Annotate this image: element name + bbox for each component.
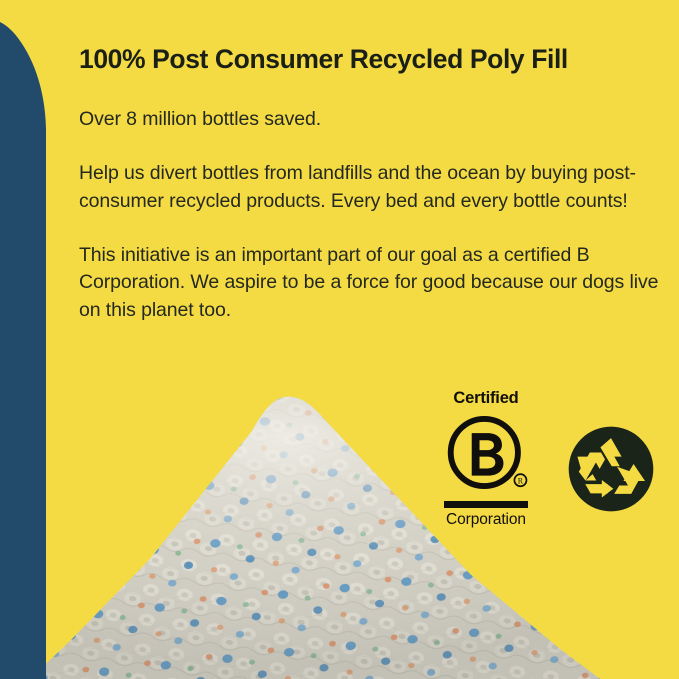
bcorp-registered-mark: R <box>518 476 524 485</box>
paragraph-b-corporation: This initiative is an important part of … <box>79 242 664 325</box>
product-info-panel: 100% Post Consumer Recycled Poly Fill Ov… <box>0 0 679 679</box>
copy-block: 100% Post Consumer Recycled Poly Fill Ov… <box>79 44 664 325</box>
recycle-symbol-icon <box>565 423 657 515</box>
bcorp-corporation-label: Corporation <box>444 512 528 528</box>
bcorp-certified-label: Certified <box>444 390 528 407</box>
paragraph-bottles-saved: Over 8 million bottles saved. <box>79 106 664 134</box>
paragraph-divert-bottles: Help us divert bottles from landfills an… <box>79 160 664 215</box>
b-corporation-logo: Certified R Corporation <box>444 390 528 527</box>
bcorp-divider-bar <box>444 501 528 508</box>
page-title: 100% Post Consumer Recycled Poly Fill <box>79 44 664 74</box>
bcorp-circle-b-icon: R <box>444 413 528 497</box>
